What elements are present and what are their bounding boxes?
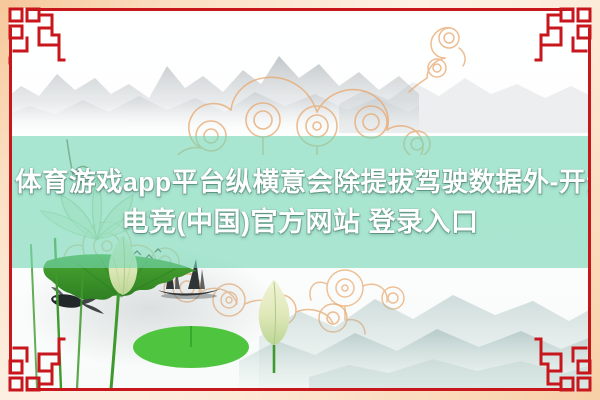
- lotus-bud-icon: [251, 277, 297, 373]
- promo-banner: 体育游戏app平台纵横意会除提拔驾驶数据外-开云 电竞(中国)官方网站 登录入口: [0, 0, 600, 400]
- headline-line-2: 电竞(中国)官方网站 登录入口: [122, 202, 479, 242]
- banner-artwork: 体育游戏app平台纵横意会除提拔驾驶数据外-开云 电竞(中国)官方网站 登录入口: [9, 8, 591, 391]
- cloud-scroll-icon: [401, 22, 481, 94]
- headline: 体育游戏app平台纵横意会除提拔驾驶数据外-开云 电竞(中国)官方网站 登录入口: [9, 136, 591, 268]
- headline-line-1: 体育游戏app平台纵横意会除提拔驾驶数据外-开云: [15, 162, 585, 202]
